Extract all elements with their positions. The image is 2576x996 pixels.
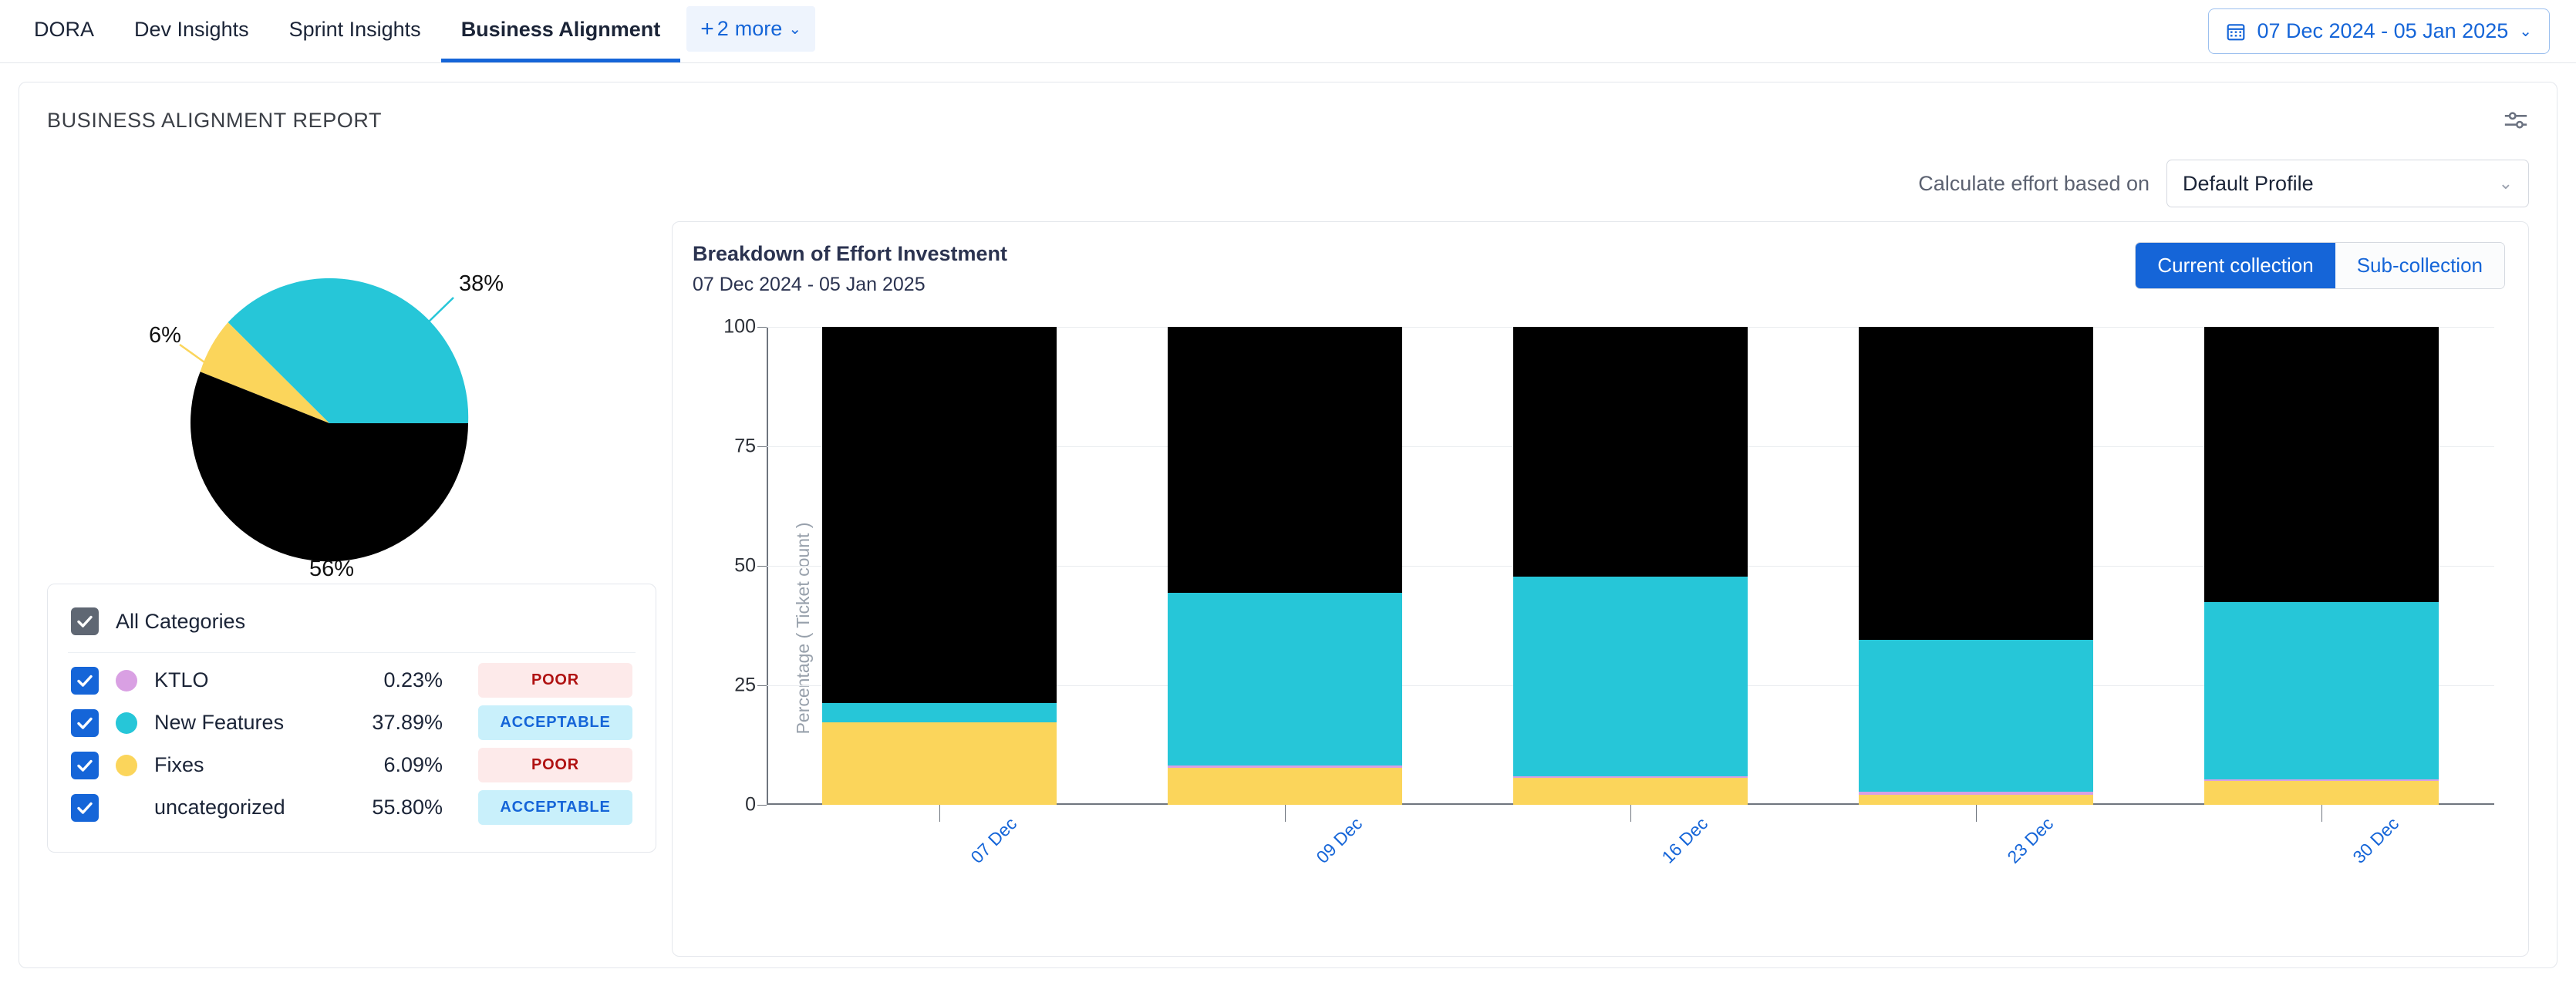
y-tick-label: 75 bbox=[734, 436, 756, 458]
tab-list: DORA Dev Insights Sprint Insights Busine… bbox=[14, 0, 815, 62]
y-tick-mark bbox=[757, 685, 767, 686]
legend-row-uncategorized[interactable]: uncategorized 55.80% ACCEPTABLE bbox=[68, 786, 636, 829]
x-tick-label: 30 Dec bbox=[2348, 813, 2403, 868]
y-tick-mark bbox=[757, 566, 767, 567]
x-tick-label: 23 Dec bbox=[2003, 813, 2058, 868]
chevron-down-icon: ⌄ bbox=[2519, 22, 2532, 41]
collection-toggle: Current collection Sub-collection bbox=[2135, 242, 2505, 289]
x-tick-mark bbox=[939, 805, 940, 822]
check-icon bbox=[76, 612, 94, 631]
status-badge-ktlo: POOR bbox=[478, 663, 632, 698]
sliders-icon[interactable] bbox=[2503, 107, 2529, 133]
status-badge-fixes: POOR bbox=[478, 748, 632, 782]
more-count: 2 bbox=[717, 17, 729, 41]
y-tick-label: 100 bbox=[723, 316, 756, 338]
y-tick-mark bbox=[757, 805, 767, 806]
plot-grid-host: 0255075100 07 Dec09 Dec16 Dec23 Dec30 De… bbox=[767, 327, 2494, 805]
date-range-value: 07 Dec 2024 - 05 Jan 2025 bbox=[2257, 19, 2508, 43]
effort-profile-label: Calculate effort based on bbox=[1918, 172, 2149, 196]
effort-profile-value: Default Profile bbox=[2183, 172, 2314, 196]
legend-row-fixes[interactable]: Fixes 6.09% POOR bbox=[68, 744, 636, 786]
chart-header-text: Breakdown of Effort Investment 07 Dec 20… bbox=[693, 242, 1007, 296]
all-categories-checkbox[interactable] bbox=[71, 607, 99, 635]
pie-label-new-features: 38% bbox=[459, 271, 504, 296]
x-tick-label: 09 Dec bbox=[1312, 813, 1367, 868]
pie-leader-line-new-features bbox=[425, 298, 453, 325]
category-legend-table: All Categories KTLO 0.23% POOR bbox=[47, 584, 656, 853]
legend-color-dot-uncategorized bbox=[116, 797, 137, 819]
pie-label-uncategorized: 56% bbox=[309, 557, 354, 581]
tab-sprint-insights[interactable]: Sprint Insights bbox=[269, 0, 441, 62]
page-title: BUSINESS ALIGNMENT REPORT bbox=[47, 109, 382, 133]
legend-percent-uncategorized: 55.80% bbox=[327, 796, 443, 819]
y-tick-label: 50 bbox=[734, 555, 756, 577]
bar-segment-ktlo[interactable] bbox=[1168, 766, 1403, 767]
report-body: 38% 6% 56% All Categories K bbox=[42, 221, 2534, 957]
check-icon bbox=[76, 671, 94, 690]
bar-segment-new-features[interactable] bbox=[1513, 577, 1748, 776]
legend-label-new-features: New Features bbox=[154, 711, 284, 735]
chart-subtitle: 07 Dec 2024 - 05 Jan 2025 bbox=[693, 274, 1007, 296]
chevron-down-icon: ⌄ bbox=[2499, 173, 2513, 193]
tab-label: Dev Insights bbox=[134, 18, 249, 42]
more-tabs-button[interactable]: + 2 more ⌄ bbox=[686, 6, 815, 52]
effort-distribution-pie-chart: 38% 6% 56% bbox=[47, 221, 656, 584]
stacked-bars bbox=[767, 327, 2494, 805]
bar-segment-fixes[interactable] bbox=[1859, 795, 2094, 805]
status-badge-uncategorized: ACCEPTABLE bbox=[478, 790, 632, 825]
toggle-current-collection[interactable]: Current collection bbox=[2136, 243, 2335, 288]
bar-segment-ktlo[interactable] bbox=[2204, 779, 2439, 781]
legend-checkbox-new-features[interactable] bbox=[71, 709, 99, 737]
legend-checkbox-ktlo[interactable] bbox=[71, 667, 99, 695]
plus-icon: + bbox=[700, 16, 714, 42]
bar-segment-new-features[interactable] bbox=[2204, 602, 2439, 780]
legend-row-ktlo[interactable]: KTLO 0.23% POOR bbox=[68, 659, 636, 702]
bar-segment-uncategorized[interactable] bbox=[1513, 327, 1748, 577]
stacked-bar[interactable] bbox=[2204, 327, 2439, 805]
stacked-bar[interactable] bbox=[1168, 327, 1403, 805]
pie-svg: 38% 6% 56% bbox=[47, 221, 656, 584]
effort-profile-select[interactable]: Default Profile ⌄ bbox=[2166, 160, 2529, 207]
x-tick-label: 07 Dec bbox=[966, 813, 1021, 868]
y-tick-mark bbox=[757, 327, 767, 328]
pie-leader-line-fixes bbox=[180, 345, 207, 364]
legend-label-uncategorized: uncategorized bbox=[154, 796, 285, 819]
x-tick-mark bbox=[1976, 805, 1977, 822]
status-badge-new-features: ACCEPTABLE bbox=[478, 705, 632, 740]
bar-segment-new-features[interactable] bbox=[1859, 640, 2094, 792]
effort-profile-row: Calculate effort based on Default Profil… bbox=[42, 160, 2534, 207]
legend-color-dot-new-features bbox=[116, 712, 137, 734]
check-icon bbox=[76, 756, 94, 775]
chevron-down-icon: ⌄ bbox=[788, 19, 801, 39]
bar-segment-fixes[interactable] bbox=[1513, 778, 1748, 805]
legend-color-dot-fixes bbox=[116, 755, 137, 776]
toggle-sub-collection[interactable]: Sub-collection bbox=[2335, 243, 2504, 288]
tab-business-alignment[interactable]: Business Alignment bbox=[441, 0, 681, 62]
stacked-bar[interactable] bbox=[822, 327, 1057, 805]
bar-segment-uncategorized[interactable] bbox=[2204, 327, 2439, 602]
chart-title: Breakdown of Effort Investment bbox=[693, 242, 1007, 266]
x-tick-mark bbox=[1630, 805, 1631, 822]
stacked-bar[interactable] bbox=[1859, 327, 2094, 805]
legend-label-ktlo: KTLO bbox=[154, 668, 209, 692]
tab-label: Business Alignment bbox=[461, 18, 661, 42]
x-tick-mark bbox=[1285, 805, 1286, 822]
legend-checkbox-fixes[interactable] bbox=[71, 752, 99, 779]
pie-label-fixes: 6% bbox=[149, 323, 181, 348]
x-tick-mark bbox=[2321, 805, 2322, 822]
check-icon bbox=[76, 714, 94, 732]
x-tick-label: 16 Dec bbox=[1657, 813, 1712, 868]
report-header: BUSINESS ALIGNMENT REPORT bbox=[42, 82, 2534, 133]
check-icon bbox=[76, 799, 94, 817]
bar-segment-uncategorized[interactable] bbox=[822, 327, 1057, 703]
legend-checkbox-uncategorized[interactable] bbox=[71, 794, 99, 822]
bar-chart-plot: Percentage ( Ticket count ) 0255075100 0… bbox=[693, 316, 2505, 940]
calendar-icon bbox=[2226, 22, 2246, 42]
y-tick-mark bbox=[757, 446, 767, 447]
bar-segment-ktlo[interactable] bbox=[1859, 792, 2094, 795]
legend-percent-fixes: 6.09% bbox=[327, 753, 443, 777]
date-range-picker[interactable]: 07 Dec 2024 - 05 Jan 2025 ⌄ bbox=[2208, 8, 2550, 54]
legend-percent-new-features: 37.89% bbox=[327, 711, 443, 735]
legend-row-new-features[interactable]: New Features 37.89% ACCEPTABLE bbox=[68, 702, 636, 744]
bar-segment-uncategorized[interactable] bbox=[1168, 327, 1403, 593]
tab-dev-insights[interactable]: Dev Insights bbox=[114, 0, 269, 62]
chart-header: Breakdown of Effort Investment 07 Dec 20… bbox=[693, 242, 2505, 296]
top-tab-bar: DORA Dev Insights Sprint Insights Busine… bbox=[0, 0, 2576, 63]
legend-all-categories-row[interactable]: All Categories bbox=[68, 598, 636, 653]
business-alignment-report-card: BUSINESS ALIGNMENT REPORT Calculate effo… bbox=[19, 82, 2557, 968]
bar-segment-uncategorized[interactable] bbox=[1859, 327, 2094, 640]
legend-label-fixes: Fixes bbox=[154, 753, 204, 777]
bar-segment-fixes[interactable] bbox=[2204, 781, 2439, 805]
legend-percent-ktlo: 0.23% bbox=[327, 668, 443, 692]
effort-breakdown-chart-card: Breakdown of Effort Investment 07 Dec 20… bbox=[672, 221, 2529, 957]
left-column: 38% 6% 56% All Categories K bbox=[47, 221, 656, 957]
bar-segment-ktlo[interactable] bbox=[1513, 776, 1748, 778]
tab-dora[interactable]: DORA bbox=[14, 0, 114, 62]
legend-color-dot-ktlo bbox=[116, 670, 137, 691]
bar-segment-fixes[interactable] bbox=[1168, 768, 1403, 805]
bar-segment-new-features[interactable] bbox=[822, 703, 1057, 722]
y-tick-label: 0 bbox=[745, 794, 756, 816]
more-label: more bbox=[735, 17, 783, 41]
tab-label: Sprint Insights bbox=[289, 18, 421, 42]
y-tick-label: 25 bbox=[734, 675, 756, 697]
all-categories-label: All Categories bbox=[116, 610, 245, 634]
bar-segment-new-features[interactable] bbox=[1168, 593, 1403, 766]
tab-label: DORA bbox=[34, 18, 94, 42]
bar-segment-fixes[interactable] bbox=[822, 722, 1057, 805]
stacked-bar[interactable] bbox=[1513, 327, 1748, 805]
